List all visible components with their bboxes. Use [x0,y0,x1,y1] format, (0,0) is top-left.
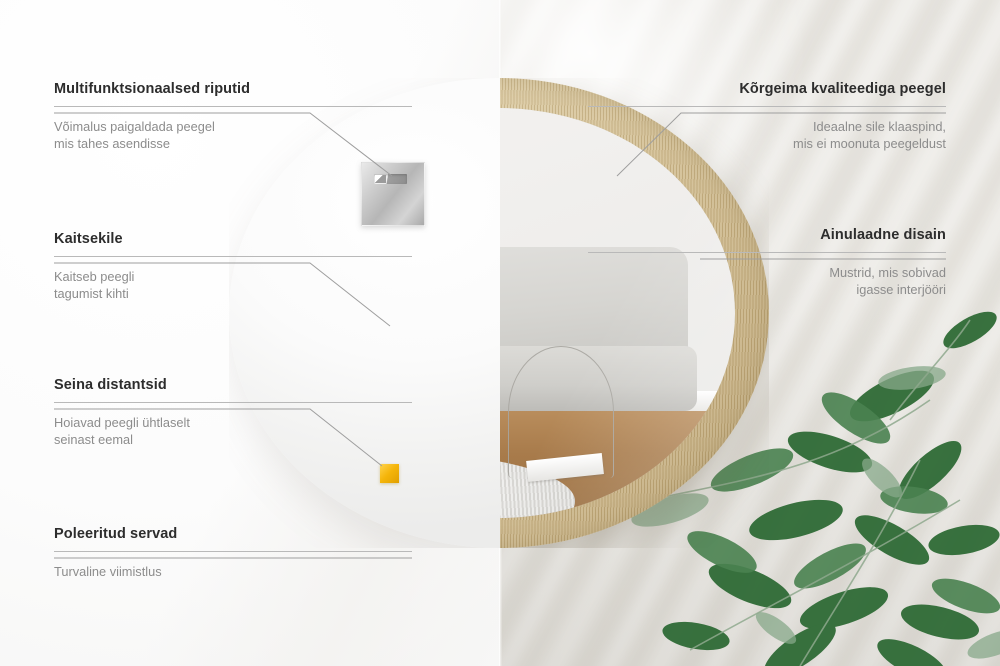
callout-title: Kõrgeima kvaliteediga peegel [588,81,946,97]
callout-title: Seina distantsid [54,377,412,393]
callout-title: Ainulaadne disain [588,227,946,243]
callout-right-1: Ainulaadne disain Mustrid, mis sobivadig… [588,227,946,298]
wall-spacer-block [380,464,399,483]
callout-right-0: Kõrgeima kvaliteediga peegel Ideaalne si… [588,81,946,152]
callout-title: Multifunktsionaalsed riputid [54,81,412,97]
callout-rule [54,402,412,403]
callout-left-1: Kaitsekile Kaitseb peeglitagumist kihti [54,231,412,302]
callout-description: Kaitseb peeglitagumist kihti [54,268,412,302]
callout-description: Hoiavad peegli ühtlaseltseinast eemal [54,414,412,448]
mirror-glass [500,108,735,518]
hanger-plate [361,162,425,226]
product-feature-infographic: Multifunktsionaalsed riputid Võimalus pa… [0,0,1000,666]
hanger-keyhole-slot [374,174,407,184]
callout-rule [588,252,946,253]
callout-rule [54,551,412,552]
callout-left-2: Seina distantsid Hoiavad peegli ühtlasel… [54,377,412,448]
callout-rule [54,106,412,107]
callout-description: Turvaline viimistlus [54,563,412,580]
callout-rule [588,106,946,107]
glass-reflection-sheen [500,108,735,518]
callout-left-3: Poleeritud servad Turvaline viimistlus [54,526,412,580]
callout-rule [54,256,412,257]
callout-description: Võimalus paigaldada peegelmis tahes asen… [54,118,412,152]
callout-description: Mustrid, mis sobivadigasse interjööri [588,264,946,298]
callout-description: Ideaalne sile klaaspind,mis ei moonuta p… [588,118,946,152]
callout-title: Kaitsekile [54,231,412,247]
callout-title: Poleeritud servad [54,526,412,542]
callout-left-0: Multifunktsionaalsed riputid Võimalus pa… [54,81,412,152]
